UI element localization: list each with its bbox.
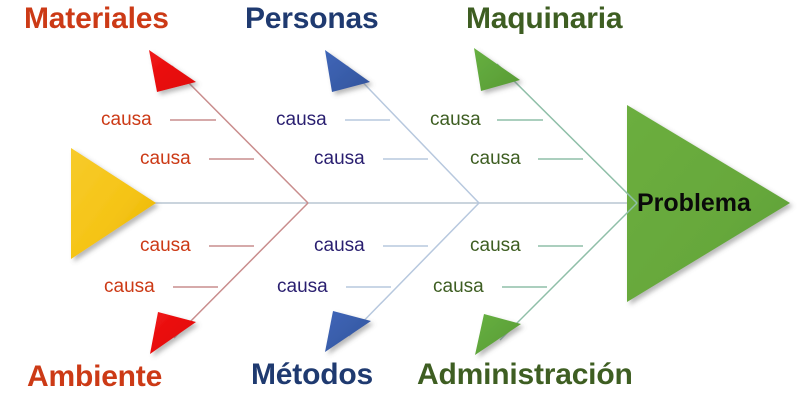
cause-label-metodos-2: causa (277, 276, 328, 298)
category-label-personas: Personas (245, 2, 378, 36)
branch-administracion-arrowhead (475, 314, 521, 355)
cause-label-personas-1: causa (276, 109, 327, 131)
branch-maquinaria-bone (497, 64, 637, 203)
cause-label-materiales-2: causa (140, 148, 191, 170)
category-label-maquinaria: Maquinaria (466, 2, 622, 36)
cause-label-materiales-1: causa (101, 109, 152, 131)
branch-materiales-arrowhead (149, 50, 196, 92)
branch-metodos-bone (349, 203, 479, 336)
fishbone-diagram-canvas: Materiales Personas Maquinaria Ambiente … (0, 0, 800, 400)
category-label-ambiente: Ambiente (27, 360, 162, 394)
category-label-metodos: Métodos (251, 358, 373, 392)
category-label-materiales: Materiales (24, 2, 169, 36)
cause-label-personas-2: causa (314, 148, 365, 170)
cause-label-ambiente-1: causa (140, 235, 191, 257)
branch-metodos-arrowhead (325, 311, 371, 352)
branch-personas-arrowhead (325, 50, 370, 92)
cause-label-ambiente-2: causa (104, 276, 155, 298)
branch-administracion-bone (500, 203, 637, 340)
branch-administracion (475, 203, 637, 355)
cause-label-administracion-1: causa (470, 235, 521, 257)
branch-personas-bone (347, 66, 479, 203)
branch-ambiente-bone (174, 203, 308, 338)
branch-materiales-bone (172, 66, 308, 203)
cause-label-maquinaria-1: causa (430, 109, 481, 131)
category-label-administracion: Administración (417, 358, 633, 392)
problem-label: Problema (637, 189, 751, 217)
cause-label-administracion-2: causa (433, 276, 484, 298)
cause-label-metodos-1: causa (314, 235, 365, 257)
branch-maquinaria-arrowhead (474, 48, 520, 91)
cause-label-maquinaria-2: causa (470, 148, 521, 170)
branch-ambiente-arrowhead (150, 312, 196, 354)
branch-maquinaria (474, 48, 637, 203)
